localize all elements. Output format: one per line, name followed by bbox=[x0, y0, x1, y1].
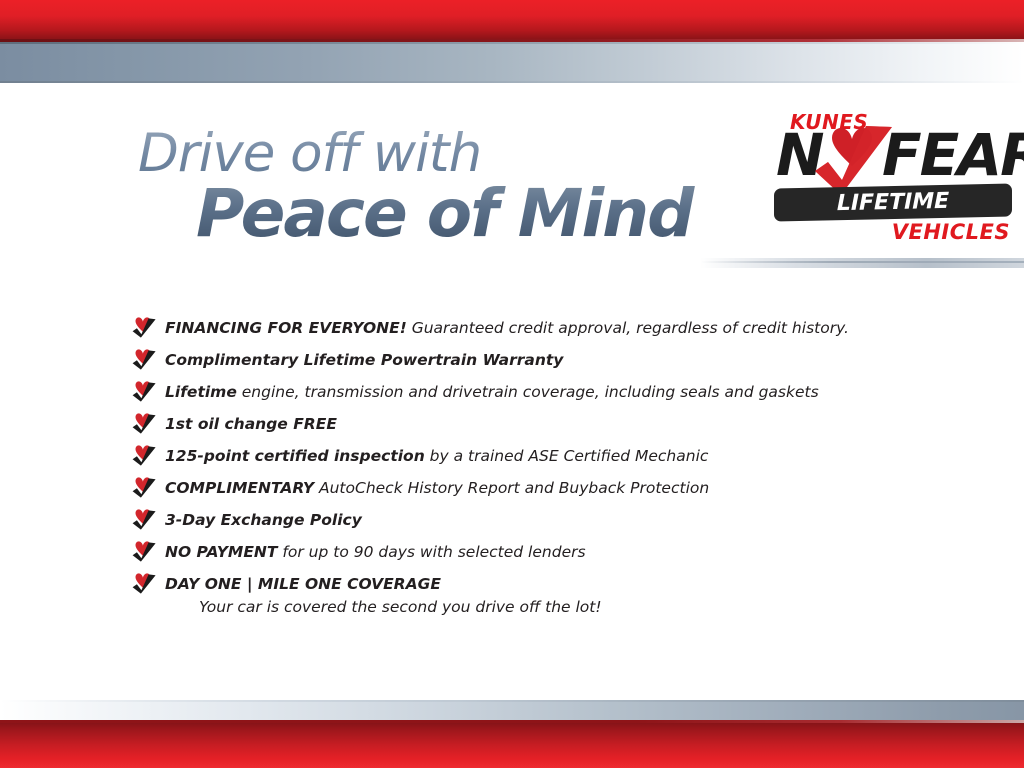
kunes-no-fear-logo: KUNES N FEAR LIFETIME CERTIFIED VEHICLES bbox=[770, 108, 1016, 244]
poster-canvas: Drive off with Peace of Mind KUNES N FEA… bbox=[0, 0, 1024, 768]
benefit-item-headline: Complimentary Lifetime Powertrain Warran… bbox=[165, 351, 563, 369]
top-gray-band bbox=[0, 42, 1024, 83]
heart-check-bullet-icon bbox=[131, 444, 157, 466]
benefit-item: NO PAYMENT for up to 90 days with select… bbox=[131, 536, 951, 568]
heart-check-bullet-icon bbox=[131, 540, 157, 562]
benefit-item: FINANCING FOR EVERYONE! Guaranteed credi… bbox=[131, 312, 951, 344]
benefit-item-text: Lifetime engine, transmission and drivet… bbox=[165, 376, 951, 408]
benefit-item-headline: Lifetime bbox=[165, 383, 237, 401]
benefit-item-subtext: Your car is covered the second you drive… bbox=[165, 596, 951, 618]
benefit-item-detail: Guaranteed credit approval, regardless o… bbox=[407, 319, 849, 337]
heart-check-bullet-icon bbox=[131, 380, 157, 402]
benefit-item-text: 1st oil change FREE bbox=[165, 408, 951, 440]
benefit-item: COMPLIMENTARY AutoCheck History Report a… bbox=[131, 472, 951, 504]
heart-check-bullet-icon bbox=[131, 572, 157, 594]
heart-check-bullet-icon bbox=[131, 316, 157, 338]
benefit-item-headline: 1st oil change FREE bbox=[165, 415, 337, 433]
benefit-item: 3-Day Exchange Policy bbox=[131, 504, 951, 536]
benefit-item-text: FINANCING FOR EVERYONE! Guaranteed credi… bbox=[165, 312, 951, 344]
benefit-item-detail: for up to 90 days with selected lenders bbox=[277, 543, 585, 561]
headline-block: Drive off with Peace of Mind bbox=[138, 126, 758, 250]
benefit-item-headline: COMPLIMENTARY bbox=[165, 479, 314, 497]
heart-check-bullet-icon bbox=[131, 476, 157, 498]
headline-line-1: Drive off with bbox=[138, 126, 758, 182]
logo-word-fear: FEAR bbox=[882, 126, 1024, 184]
logo-no-fear-wordmark: N FEAR bbox=[776, 126, 1016, 188]
heart-check-bullet-icon bbox=[131, 508, 157, 530]
benefit-item-text: Complimentary Lifetime Powertrain Warran… bbox=[165, 344, 951, 376]
benefit-item-detail: AutoCheck History Report and Buyback Pro… bbox=[314, 479, 709, 497]
benefit-item: 125-point certified inspection by a trai… bbox=[131, 440, 951, 472]
benefit-item-text: COMPLIMENTARY AutoCheck History Report a… bbox=[165, 472, 951, 504]
benefit-item: Complimentary Lifetime Powertrain Warran… bbox=[131, 344, 951, 376]
top-red-band bbox=[0, 0, 1024, 42]
bottom-gray-band bbox=[0, 700, 1024, 720]
benefit-item: DAY ONE | MILE ONE COVERAGEYour car is c… bbox=[131, 568, 951, 618]
benefit-item-headline: NO PAYMENT bbox=[165, 543, 277, 561]
benefits-list: FINANCING FOR EVERYONE! Guaranteed credi… bbox=[131, 312, 951, 618]
benefit-item-text: 3-Day Exchange Policy bbox=[165, 504, 951, 536]
benefit-item-headline: FINANCING FOR EVERYONE! bbox=[165, 319, 407, 337]
logo-vehicles-text: VEHICLES bbox=[892, 220, 1010, 244]
benefit-item-detail: by a trained ASE Certified Mechanic bbox=[425, 447, 709, 465]
benefit-item-detail: engine, transmission and drivetrain cove… bbox=[237, 383, 819, 401]
bottom-red-band bbox=[0, 720, 1024, 768]
heart-check-bullet-icon bbox=[131, 348, 157, 370]
benefit-item-text: NO PAYMENT for up to 90 days with select… bbox=[165, 536, 951, 568]
benefit-item-headline: 125-point certified inspection bbox=[165, 447, 425, 465]
heart-check-bullet-icon bbox=[131, 412, 157, 434]
benefit-item-text: 125-point certified inspection by a trai… bbox=[165, 440, 951, 472]
header-divider-rule bbox=[700, 258, 1024, 268]
benefit-item-headline: DAY ONE | MILE ONE COVERAGE bbox=[165, 575, 441, 593]
headline-line-2: Peace of Mind bbox=[196, 178, 758, 250]
benefit-item: Lifetime engine, transmission and drivet… bbox=[131, 376, 951, 408]
benefit-item-headline: 3-Day Exchange Policy bbox=[165, 511, 362, 529]
logo-lifetime-certified-bar: LIFETIME CERTIFIED bbox=[774, 184, 1012, 222]
benefit-item: 1st oil change FREE bbox=[131, 408, 951, 440]
